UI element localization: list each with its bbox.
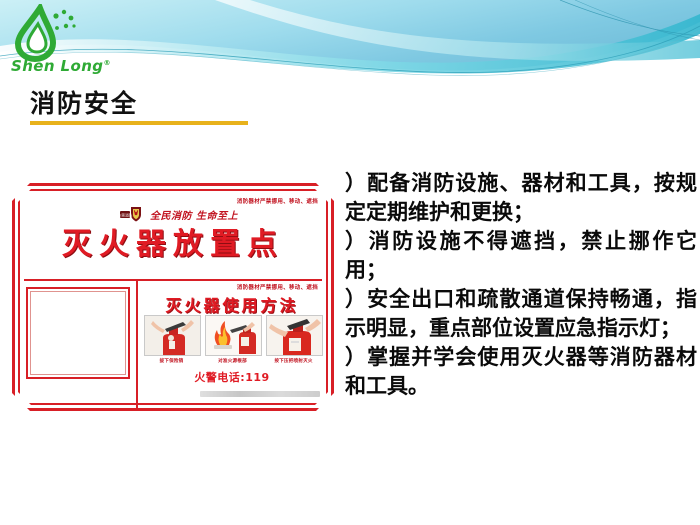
usage-step-2-caption: 对准火源根部 (205, 358, 260, 364)
fire-hotline: 火警电话:119 (142, 369, 322, 385)
water-droplet-icon (4, 4, 114, 62)
title-underline (30, 121, 248, 125)
aim-at-fire-photo-icon (205, 315, 262, 356)
placard-main-title: 灭火器放置点 (24, 219, 322, 263)
usage-title: 灭火器使用方法 (142, 292, 322, 316)
usage-step-1-caption: 拔下保险销 (144, 358, 199, 364)
warning-text-mid: 消防器材严禁挪用、移动、遮挡 (237, 283, 318, 291)
usage-step-2: 对准火源根部 (205, 315, 260, 364)
usage-steps: 拔下保险销 (144, 315, 322, 364)
placard-vertical-divider (136, 281, 138, 409)
safety-point-3: ）安全出口和疏散通道保持畅通，指示明显，重点部位设置应急指示灯； (345, 284, 697, 342)
usage-section: 消防器材严禁挪用、移动、遮挡 灭火器使用方法 (142, 281, 322, 399)
page-title: 消防安全 (30, 84, 138, 120)
empty-placard-frame (26, 287, 130, 379)
svg-text:东莞消防: 东莞消防 (120, 212, 133, 217)
usage-step-1: 拔下保险销 (144, 315, 199, 364)
logo-wordmark: Shen Long® (11, 57, 111, 75)
slide-canvas: Shen Long® 消防安全 ）配备消防设施、器材和工具，按规定定期维护和更换… (0, 0, 700, 525)
safety-point-1: ）配备消防设施、器材和工具，按规定定期维护和更换； (345, 168, 697, 226)
usage-step-3: 按下压把喷射灭火 (266, 315, 321, 364)
safety-point-4: ）掌握并学会使用灭火器等消防器材和工具。 (345, 342, 697, 400)
squeeze-handle-photo-icon (266, 315, 323, 356)
fire-extinguisher-placard: 消防器材严禁挪用、移动、遮挡 东莞消防 全民消防 生命至上 灭火器放置点 (12, 183, 334, 411)
frame-inner (30, 291, 126, 375)
placard-bottom-section: 消防器材严禁挪用、移动、遮挡 灭火器使用方法 (24, 281, 322, 399)
safety-point-2: ）消防设施不得遮挡，禁止挪作它用； (345, 226, 697, 284)
warning-text-top: 消防器材严禁挪用、移动、遮挡 (237, 197, 318, 205)
brand-logo: Shen Long® (4, 4, 114, 76)
placard-content: 消防器材严禁挪用、移动、遮挡 东莞消防 全民消防 生命至上 灭火器放置点 (24, 195, 322, 399)
usage-step-3-caption: 按下压把喷射灭火 (266, 358, 321, 364)
placard-top-section: 消防器材严禁挪用、移动、遮挡 东莞消防 全民消防 生命至上 灭火器放置点 (24, 195, 322, 279)
pull-pin-photo-icon (144, 315, 201, 356)
safety-points-list: ）配备消防设施、器材和工具，按规定定期维护和更换； ）消防设施不得遮挡，禁止挪作… (345, 168, 697, 400)
watermark-strip (200, 391, 320, 397)
